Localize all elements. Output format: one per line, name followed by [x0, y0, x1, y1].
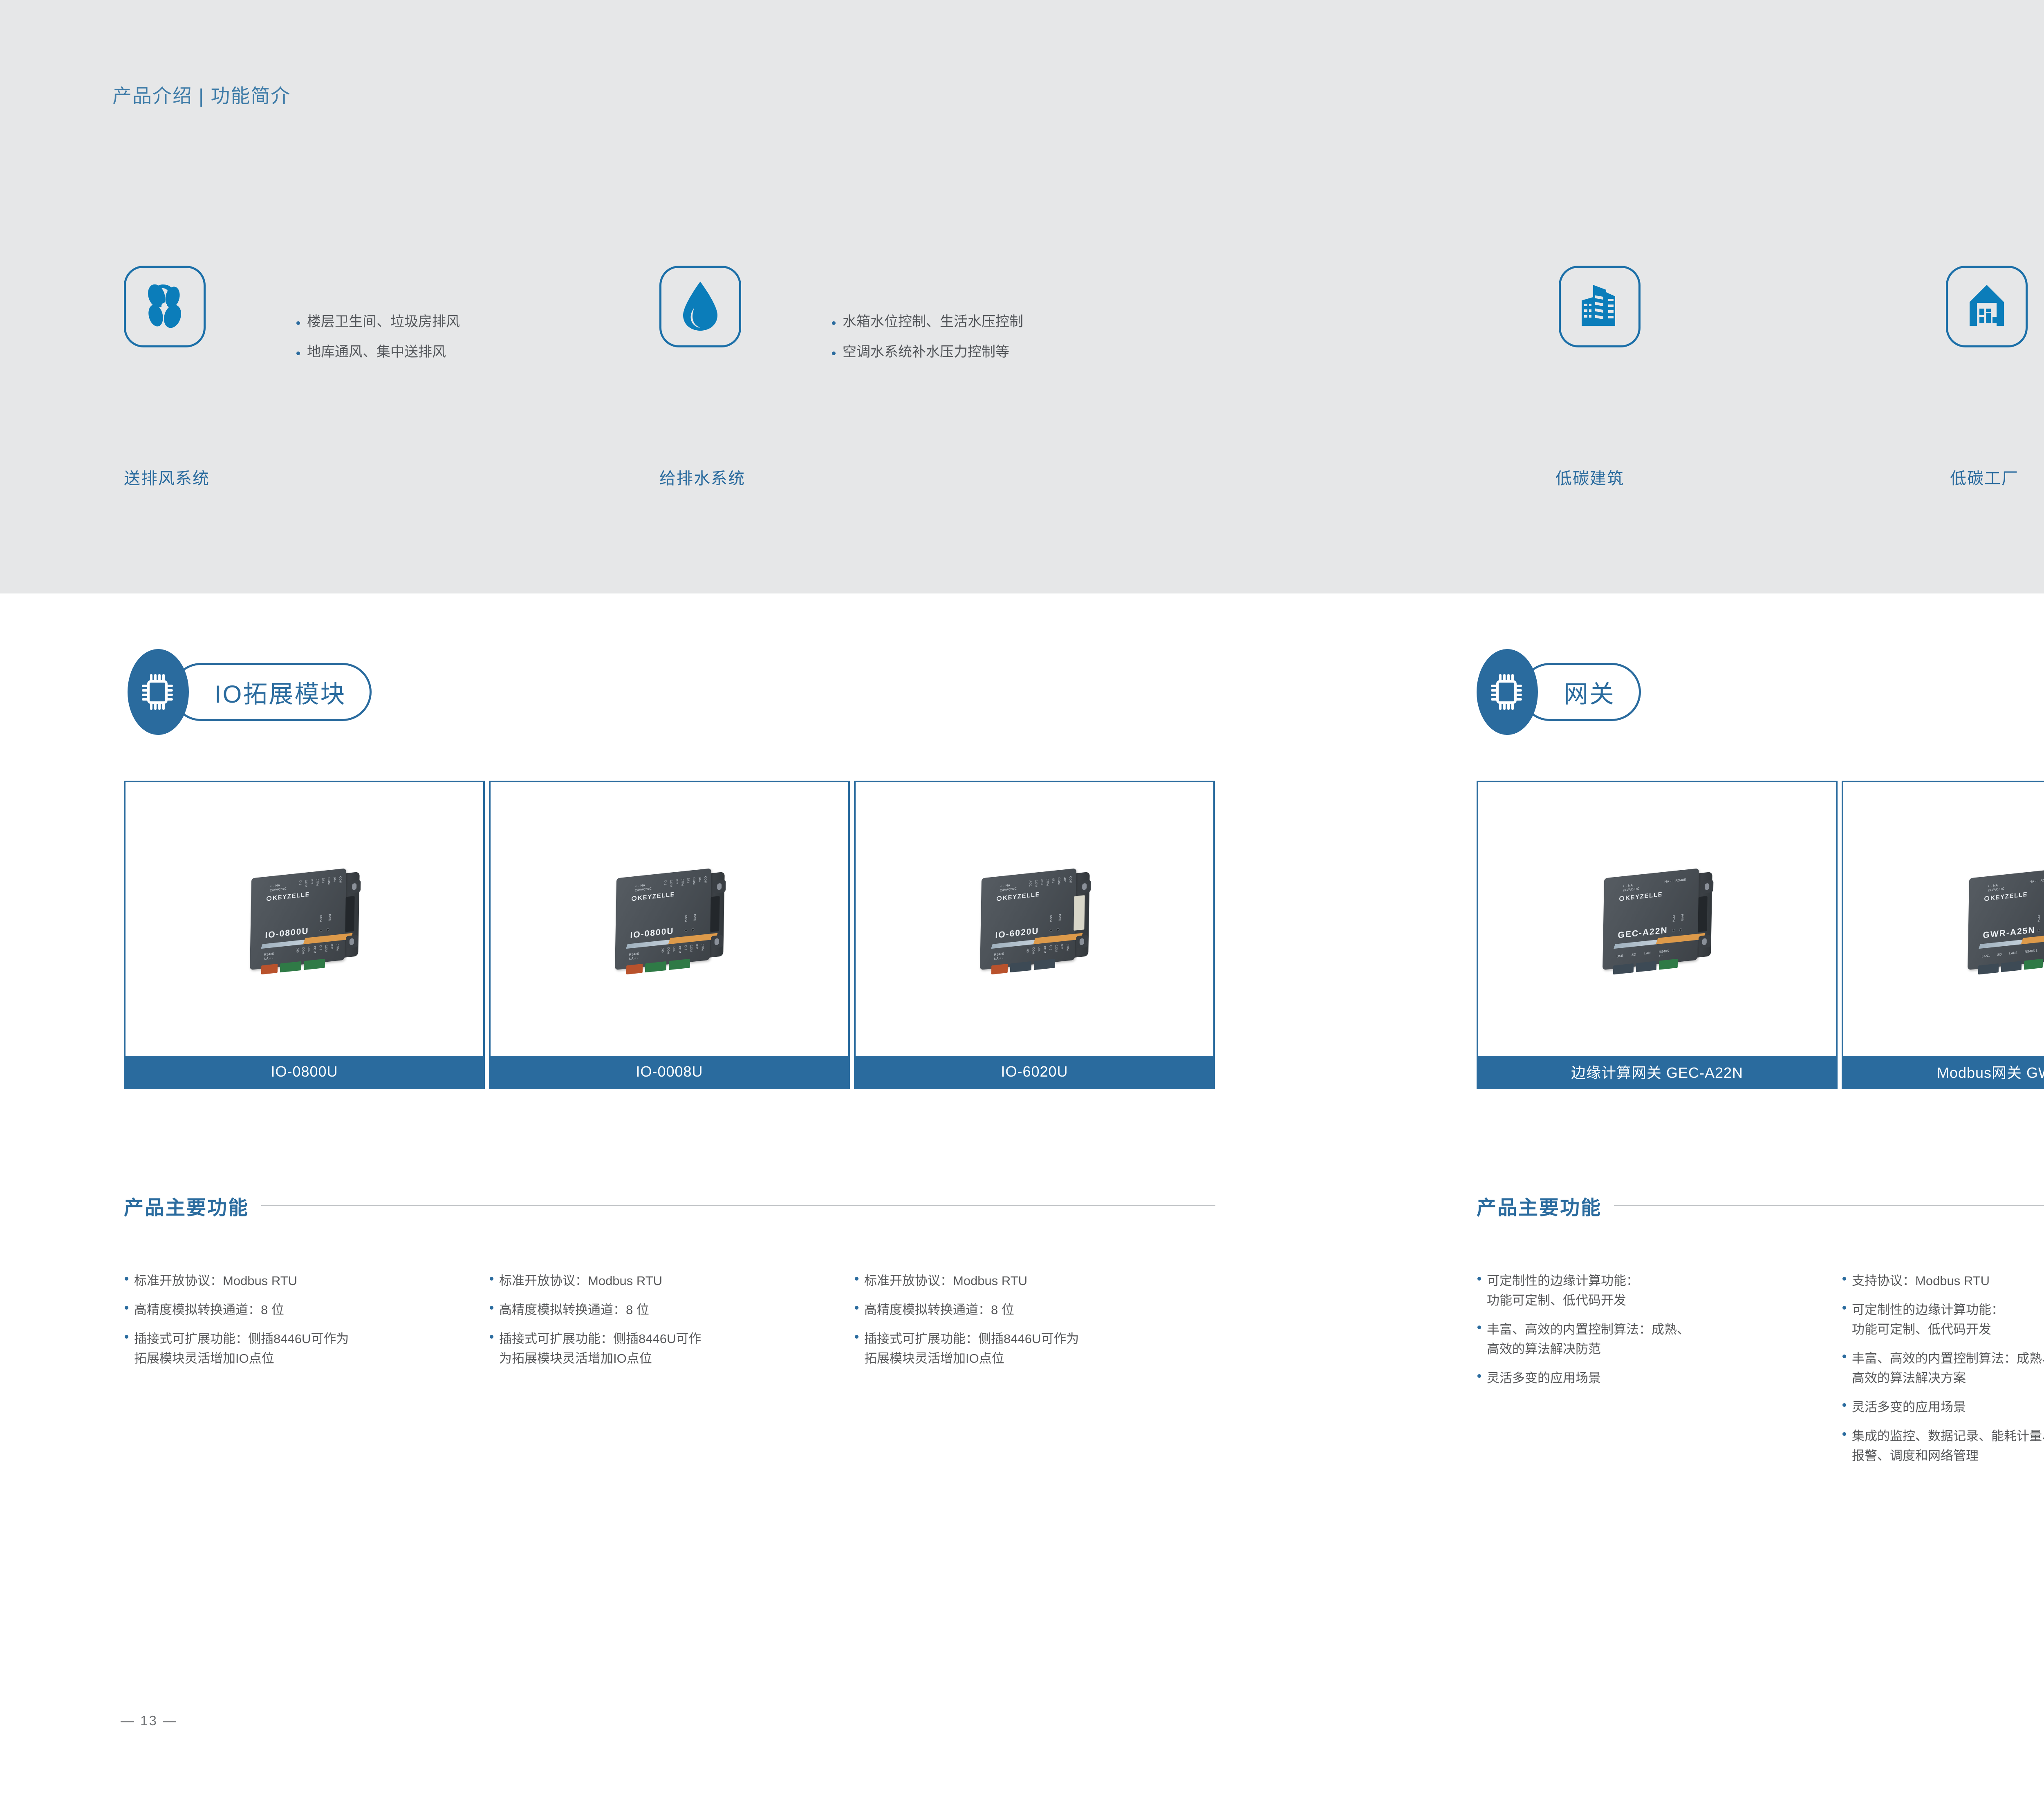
device-rs485-label: RS485 NA + -: [994, 952, 1004, 961]
section-badge-label: 网关: [1523, 674, 1639, 710]
bullet-dot: [296, 321, 300, 325]
feature-text: 高精度模拟转换通道：8 位: [134, 1300, 284, 1320]
product-card[interactable]: + - NA 24VAC/DC DI1 COM DI2 COM DI3 COM …: [489, 781, 850, 1089]
led-com: [319, 929, 322, 932]
led-com: [1049, 929, 1052, 932]
bullet-dot: [125, 1335, 128, 1339]
led-pwr: [326, 928, 329, 931]
product-image: + - NA 24VAC/DC DI1 COM DI2 COM DI3 COM …: [126, 782, 483, 1056]
bullet-text: 空调水系统补水压力控制等: [843, 345, 1009, 359]
product-image: + - NA 24VAC/DC AO1 COM AO2 COM UI1 COM …: [856, 782, 1213, 1056]
feature-text: 标准开放协议：Modbus RTU: [864, 1271, 1027, 1291]
application-tile-plumbing: [659, 266, 741, 347]
device-bottom-pins: DI5 COM DI6 COM: [661, 946, 681, 955]
device-top-pins-2: DI3 COM DI4 COM: [321, 876, 341, 885]
feature-column: 支持协议：Modbus RTU 可定制性的边缘计算功能： 功能可定制、低代码开发…: [1842, 1271, 2044, 1475]
bullet-text: 楼层卫生间、垃圾房排风: [307, 315, 460, 329]
feature-column: 标准开放协议：Modbus RTU 高精度模拟转换通道：8 位 插接式可扩展功能…: [490, 1271, 849, 1378]
heading-rule: [1614, 1205, 2044, 1206]
application-tile-ventilation: [124, 266, 206, 347]
device-rs485-top-label: NA + - RS485: [1664, 878, 1686, 884]
feature-text: 标准开放协议：Modbus RTU: [499, 1271, 662, 1291]
bullet-dot: [490, 1335, 493, 1339]
led-pwr: [1679, 928, 1682, 931]
badge-pill: IO拓展模块: [172, 663, 372, 721]
device-illustration: + - NA 24VAC/DC AO1 COM AO2 COM UI1 COM …: [972, 862, 1096, 976]
scenario-caption-factory: 低碳工厂: [1950, 465, 2019, 489]
bullet-dot: [1842, 1277, 1846, 1281]
feature-column: 标准开放协议：Modbus RTU 高精度模拟转换通道：8 位 插接式可扩展功能…: [855, 1271, 1215, 1378]
device-power-label: + - NA 24VAC/DC: [1623, 882, 1639, 892]
device-brand: KEYZELLE: [1984, 891, 2027, 902]
product-label: IO-0008U: [491, 1056, 848, 1088]
product-label: IO-0800U: [126, 1056, 483, 1088]
device-illustration: + - NA 24VAC/DC NA + - RS485 KEYZELLE CO…: [1595, 862, 1719, 976]
feature-text: 高精度模拟转换通道：8 位: [499, 1300, 649, 1320]
device-brand: KEYZELLE: [266, 891, 309, 902]
feature-text: 灵活多变的应用场景: [1487, 1368, 1601, 1388]
device-power-label: + - NA 24VAC/DC: [270, 882, 287, 892]
bullet-dot: [832, 352, 836, 355]
bullet-dot: [855, 1335, 858, 1339]
badge-pill: 网关: [1521, 663, 1641, 721]
bullet-dot: [1477, 1326, 1481, 1329]
device-brand: KEYZELLE: [996, 891, 1040, 902]
device-power-label: + - NA 24VAC/DC: [635, 882, 652, 892]
application-bullets-ventilation: 楼层卫生间、垃圾房排风 地库通风、集中送排风: [296, 315, 460, 359]
device-model: IO-6020U: [995, 926, 1039, 940]
product-label: IO-6020U: [856, 1056, 1213, 1088]
device-illustration: + - NA 24VAC/DC NA + - RS485 KEYZELLE CO…: [1960, 862, 2044, 976]
feature-text: 集成的监控、数据记录、能耗计量、 报警、调度和网络管理: [1852, 1426, 2044, 1466]
led-com: [1672, 929, 1675, 932]
device-brand: KEYZELLE: [1619, 891, 1662, 902]
feature-text: 插接式可扩展功能：侧插8446U可作为 拓展模块灵活增加IO点位: [134, 1329, 349, 1368]
fan-icon: [140, 280, 189, 333]
led-com: [684, 929, 687, 932]
device-bottom-pins-2: DI7 COM DI8 COM: [318, 943, 338, 953]
features-heading-io: 产品主要功能: [124, 1191, 1215, 1220]
chip-icon: [1477, 649, 1538, 735]
product-label: 边缘计算网关 GEC-A22N: [1478, 1056, 1836, 1088]
device-led-labels: COM PWR: [684, 914, 695, 922]
bullet-dot: [855, 1277, 858, 1281]
factory-icon: [1966, 283, 2008, 330]
feature-column: 可定制性的边缘计算功能： 功能可定制、低代码开发 丰富、高效的内置控制算法：成熟…: [1477, 1271, 1833, 1397]
bullet-dot: [490, 1306, 493, 1310]
water-drop-icon: [678, 279, 723, 334]
scenario-caption-building: 低碳建筑: [1555, 465, 1624, 489]
product-card[interactable]: + - NA 24VAC/DC AO1 COM AO2 COM UI1 COM …: [854, 781, 1215, 1089]
bullet-dot: [125, 1277, 128, 1281]
features-heading-gateway: 产品主要功能: [1477, 1191, 2044, 1220]
bullet-dot: [1477, 1277, 1481, 1281]
bullet-text: 地库通风、集中送排风: [307, 345, 446, 359]
page-header-left: 产品介绍 | 功能简介: [112, 80, 291, 108]
led-pwr: [1056, 928, 1059, 931]
device-led-labels: COM PWR: [319, 914, 330, 922]
scenario-tile-building: [1559, 266, 1641, 347]
feature-text: 插接式可扩展功能：侧插8446U可作为 拓展模块灵活增加IO点位: [864, 1329, 1079, 1368]
device-bottom-pins-2: UI5 COM UI6 COM: [1049, 943, 1069, 953]
device-top-pins: DI1 COM DI2 COM: [663, 878, 684, 888]
device-bottom-pins-2: DI7 COM DI8 COM: [684, 943, 704, 953]
device-rs485-label: RS485 NA + -: [264, 952, 274, 961]
feature-text: 可定制性的边缘计算功能： 功能可定制、低代码开发: [1487, 1271, 1639, 1310]
bullet-dot: [1842, 1306, 1846, 1310]
chip-icon: [128, 649, 189, 735]
scenario-tile-factory: [1946, 266, 2028, 347]
device-illustration: + - NA 24VAC/DC DI1 COM DI2 COM DI3 COM …: [242, 862, 366, 976]
feature-text: 标准开放协议：Modbus RTU: [134, 1271, 297, 1291]
device-model: IO-0800U: [630, 926, 674, 940]
feature-text: 高精度模拟转换通道：8 位: [864, 1300, 1014, 1320]
bullet-dot: [296, 352, 300, 355]
product-card[interactable]: + - NA 24VAC/DC NA + - RS485 KEYZELLE CO…: [1842, 781, 2044, 1089]
bullet-dot: [855, 1306, 858, 1310]
device-bottom-pins: DI5 COM DI6 COM: [296, 946, 316, 955]
section-badge-label: IO拓展模块: [174, 674, 370, 710]
page-number-left: — 13 —: [121, 1713, 177, 1729]
device-illustration: + - NA 24VAC/DC DI1 COM DI2 COM DI3 COM …: [607, 862, 731, 976]
application-caption-ventilation: 送排风系统: [124, 465, 210, 489]
device-power-label: + - NA 24VAC/DC: [1988, 882, 2004, 892]
device-led-labels: COM PWR: [2037, 914, 2044, 922]
bullet-dot: [490, 1277, 493, 1281]
device-brand: KEYZELLE: [631, 891, 675, 902]
feature-text: 丰富、高效的内置控制算法：成熟、 高效的算法解决防范: [1487, 1320, 1690, 1359]
device-bottom-ports: LAN1 SD LAN2 RS485 1: [1981, 949, 2037, 959]
bullet-dot: [1842, 1355, 1846, 1358]
office-building-icon: [1578, 283, 1622, 330]
top-gray-band: [0, 0, 2044, 593]
product-image: + - NA 24VAC/DC NA + - RS485 KEYZELLE CO…: [1843, 782, 2044, 1056]
product-card[interactable]: + - NA 24VAC/DC NA + - RS485 KEYZELLE CO…: [1477, 781, 1838, 1089]
feature-text: 丰富、高效的内置控制算法：成熟、 高效的算法解决方案: [1852, 1349, 2044, 1388]
feature-column: 标准开放协议：Modbus RTU 高精度模拟转换通道：8 位 插接式可扩展功能…: [125, 1271, 484, 1378]
device-top-pins: AO1 COM AO2 COM: [1029, 878, 1049, 888]
device-rs485-top-label: NA + - RS485: [2029, 878, 2044, 884]
bullet-dot: [1842, 1432, 1846, 1436]
device-led-labels: COM PWR: [1049, 914, 1060, 922]
device-rs485-label: RS485 NA + -: [629, 952, 639, 961]
device-top-pins-2: UI1 COM UI2 COM: [1051, 876, 1071, 885]
device-led-labels: COM PWR: [1672, 914, 1683, 922]
feature-text: 支持协议：Modbus RTU: [1852, 1271, 1990, 1291]
heading-rule: [261, 1205, 1215, 1206]
device-bottom-pins: UI3 COM UI4 COM: [1026, 946, 1046, 955]
bullet-dot: [832, 321, 836, 325]
application-caption-plumbing: 给排水系统: [659, 465, 745, 489]
device-top-pins: DI1 COM DI2 COM: [298, 878, 318, 888]
product-card[interactable]: + - NA 24VAC/DC DI1 COM DI2 COM DI3 COM …: [124, 781, 485, 1089]
feature-text: 灵活多变的应用场景: [1852, 1397, 1966, 1417]
bullet-dot: [1477, 1374, 1481, 1378]
device-model: IO-0800U: [265, 926, 309, 940]
product-image: + - NA 24VAC/DC DI1 COM DI2 COM DI3 COM …: [491, 782, 848, 1056]
feature-text: 可定制性的边缘计算功能： 功能可定制、低代码开发: [1852, 1300, 2004, 1339]
bullet-dot: [1842, 1403, 1846, 1407]
product-image: + - NA 24VAC/DC NA + - RS485 KEYZELLE CO…: [1478, 782, 1836, 1056]
application-bullets-plumbing: 水箱水位控制、生活水压控制 空调水系统补水压力控制等: [832, 315, 1023, 359]
led-com: [2037, 929, 2040, 932]
product-label: Modbus网关 GWR-A25N: [1843, 1056, 2044, 1088]
bullet-dot: [125, 1306, 128, 1310]
feature-text: 插接式可扩展功能：侧插8446U可作 为拓展模块灵活增加IO点位: [499, 1329, 701, 1368]
device-power-label: + - NA 24VAC/DC: [1000, 882, 1017, 892]
device-top-pins-2: DI3 COM DI4 COM: [686, 876, 706, 885]
bullet-text: 水箱水位控制、生活水压控制: [843, 315, 1023, 329]
led-pwr: [691, 928, 694, 931]
